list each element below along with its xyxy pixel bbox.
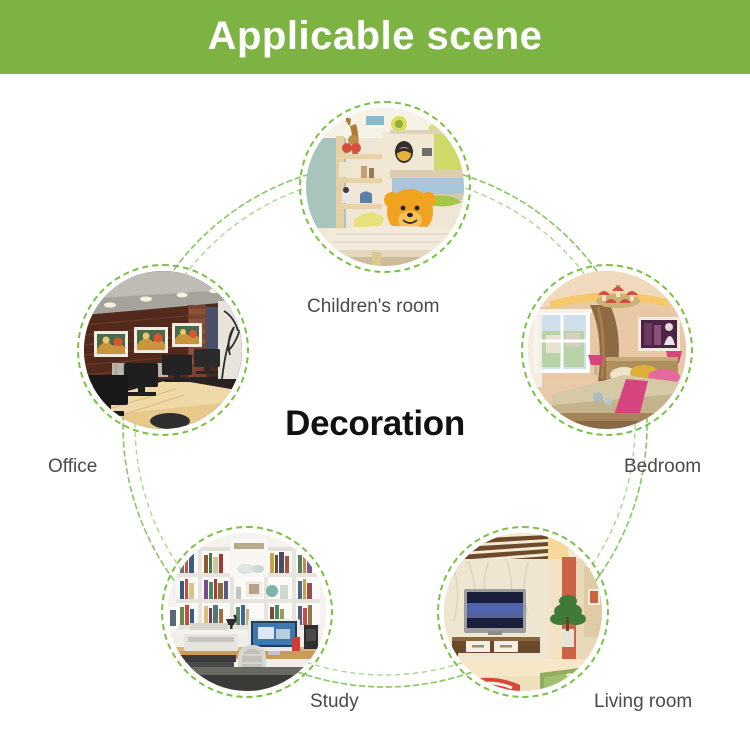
node-living-room[interactable] bbox=[437, 526, 609, 698]
children-room-ring bbox=[299, 101, 471, 273]
node-office[interactable] bbox=[77, 264, 249, 436]
node-label-study: Study bbox=[310, 691, 359, 713]
node-label-bedroom: Bedroom bbox=[624, 456, 701, 478]
node-bedroom[interactable] bbox=[521, 264, 693, 436]
node-children-room[interactable] bbox=[299, 101, 471, 273]
node-label-living-room: Living room bbox=[594, 691, 692, 713]
header-bar: Applicable scene bbox=[0, 0, 750, 74]
applicable-scene-infographic: Applicable scene Decoration bbox=[0, 0, 750, 750]
page-title: Applicable scene bbox=[0, 0, 750, 74]
bedroom-ring bbox=[521, 264, 693, 436]
node-study[interactable] bbox=[161, 526, 333, 698]
living-room-ring bbox=[437, 526, 609, 698]
node-label-office: Office bbox=[48, 456, 97, 478]
node-label-children-room: Children's room bbox=[307, 296, 439, 318]
office-ring bbox=[77, 264, 249, 436]
study-ring bbox=[161, 526, 333, 698]
diagram-area: Decoration bbox=[0, 74, 750, 750]
